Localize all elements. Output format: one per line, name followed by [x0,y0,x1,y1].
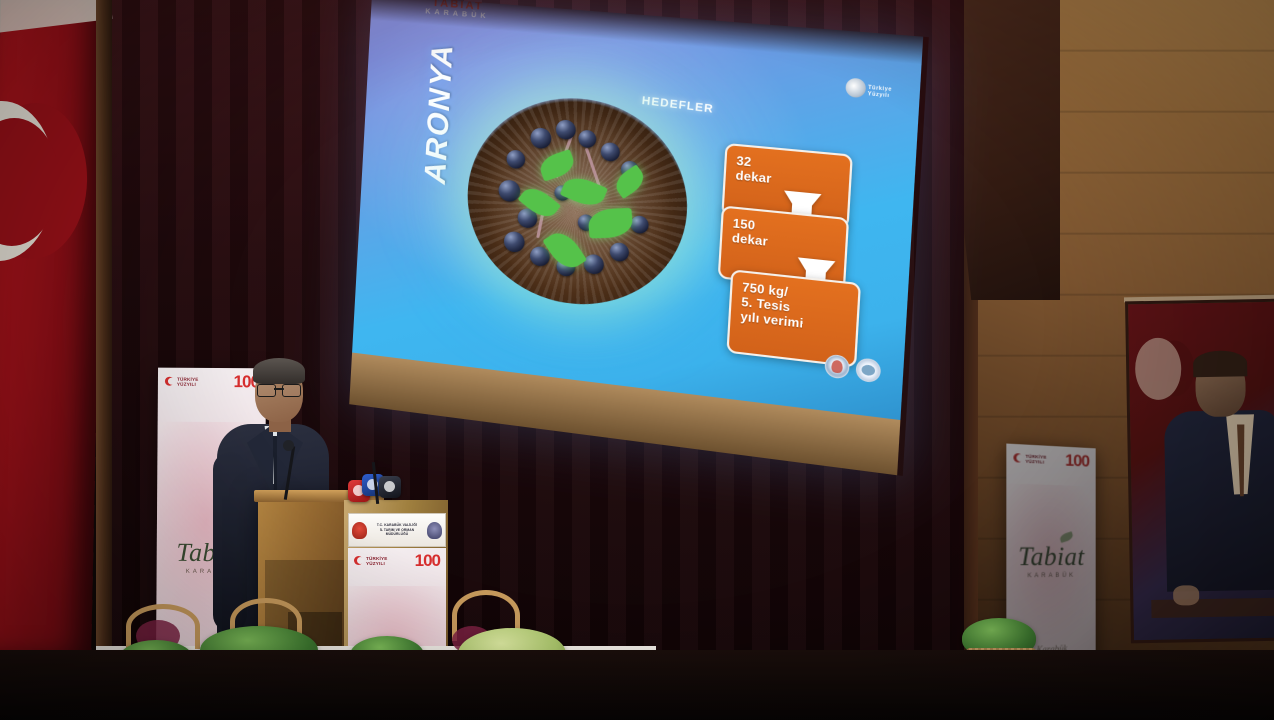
ministry-emblem-icon [427,522,442,539]
portrait-hair [1193,350,1247,377]
slide-turkiye-yuzyili-badge: Türkiye Yüzyılı [845,77,895,100]
lectern-plate-text: T.C. KARABÜK VALİLİĞİ İL TARIM VE ORMAN … [370,523,424,536]
lectern-hundred: 100 [415,552,440,569]
slide-surface: TABİAT KARABÜK ARONYA HEDEFLER [352,0,923,420]
badge-label: Türkiye Yüzyılı [868,85,896,100]
flag-pole [96,0,112,700]
ministry-seal-icon [855,357,881,383]
banner-right-logo-text: TÜRKİYE YÜZYILI [1025,453,1046,464]
projection-screen-wrap: TABİAT KARABÜK ARONYA HEDEFLER [372,0,897,406]
lectern-logo-text: TÜRKİYE YÜZYILI [366,556,388,566]
portrait-ledge [1151,598,1274,618]
stage-floor [0,650,1274,720]
target-box-3: 750 kg/ 5. Tesis yılı verimi [726,269,861,368]
projection-screen: TABİAT KARABÜK ARONYA HEDEFLER [349,0,929,476]
press-mic-flag-dark [379,476,401,498]
turkish-flag [0,0,105,656]
banner-right-brand: Tabiat [1006,542,1095,573]
banner-right-hundred: 100 [1065,452,1089,470]
speaker-glasses-icon [257,384,301,395]
banner-left-logo-text: TÜRKİYE YÜZYILI [177,376,199,386]
ataturk-portrait [1125,299,1274,644]
turkiye-yuzyili-logo-right: TÜRKİYE YÜZYILI [1013,453,1046,465]
banner-right-brand-sub: KARABÜK [1006,573,1095,580]
press-microphone-flags [348,474,410,504]
turkiye-yuzyili-logo-lectern: TÜRKİYE YÜZYILI [354,556,388,566]
banner-right-header: TÜRKİYE YÜZYILI 100 [1006,444,1095,470]
aronia-bowl-image [462,89,693,316]
turkiye-yuzyili-logo-left: TÜRKİYE YÜZYILI [165,376,199,386]
portrait-hand [1173,585,1199,605]
crescent-icon [165,377,174,386]
governorship-emblem-icon [352,522,367,539]
bowl-rays [462,89,693,316]
badge-circle-icon [845,77,866,98]
flag-crescent-inner [0,118,60,246]
portrait-body [1164,410,1274,592]
lectern-name-plate: T.C. KARABÜK VALİLİĞİ İL TARIM VE ORMAN … [348,513,446,547]
crescent-icon [354,556,363,565]
crescent-icon [1013,453,1022,463]
microphone-head-icon [283,440,294,451]
governorship-seal-icon [824,354,850,380]
lectern-banner-header: TÜRKİYE YÜZYILI 100 [348,552,446,569]
banner-right-brand-block: Tabiat KARABÜK [1006,542,1095,580]
speaker-hair [253,358,305,384]
conference-hall-photo: TABİAT KARABÜK ARONYA HEDEFLER [0,0,1274,720]
